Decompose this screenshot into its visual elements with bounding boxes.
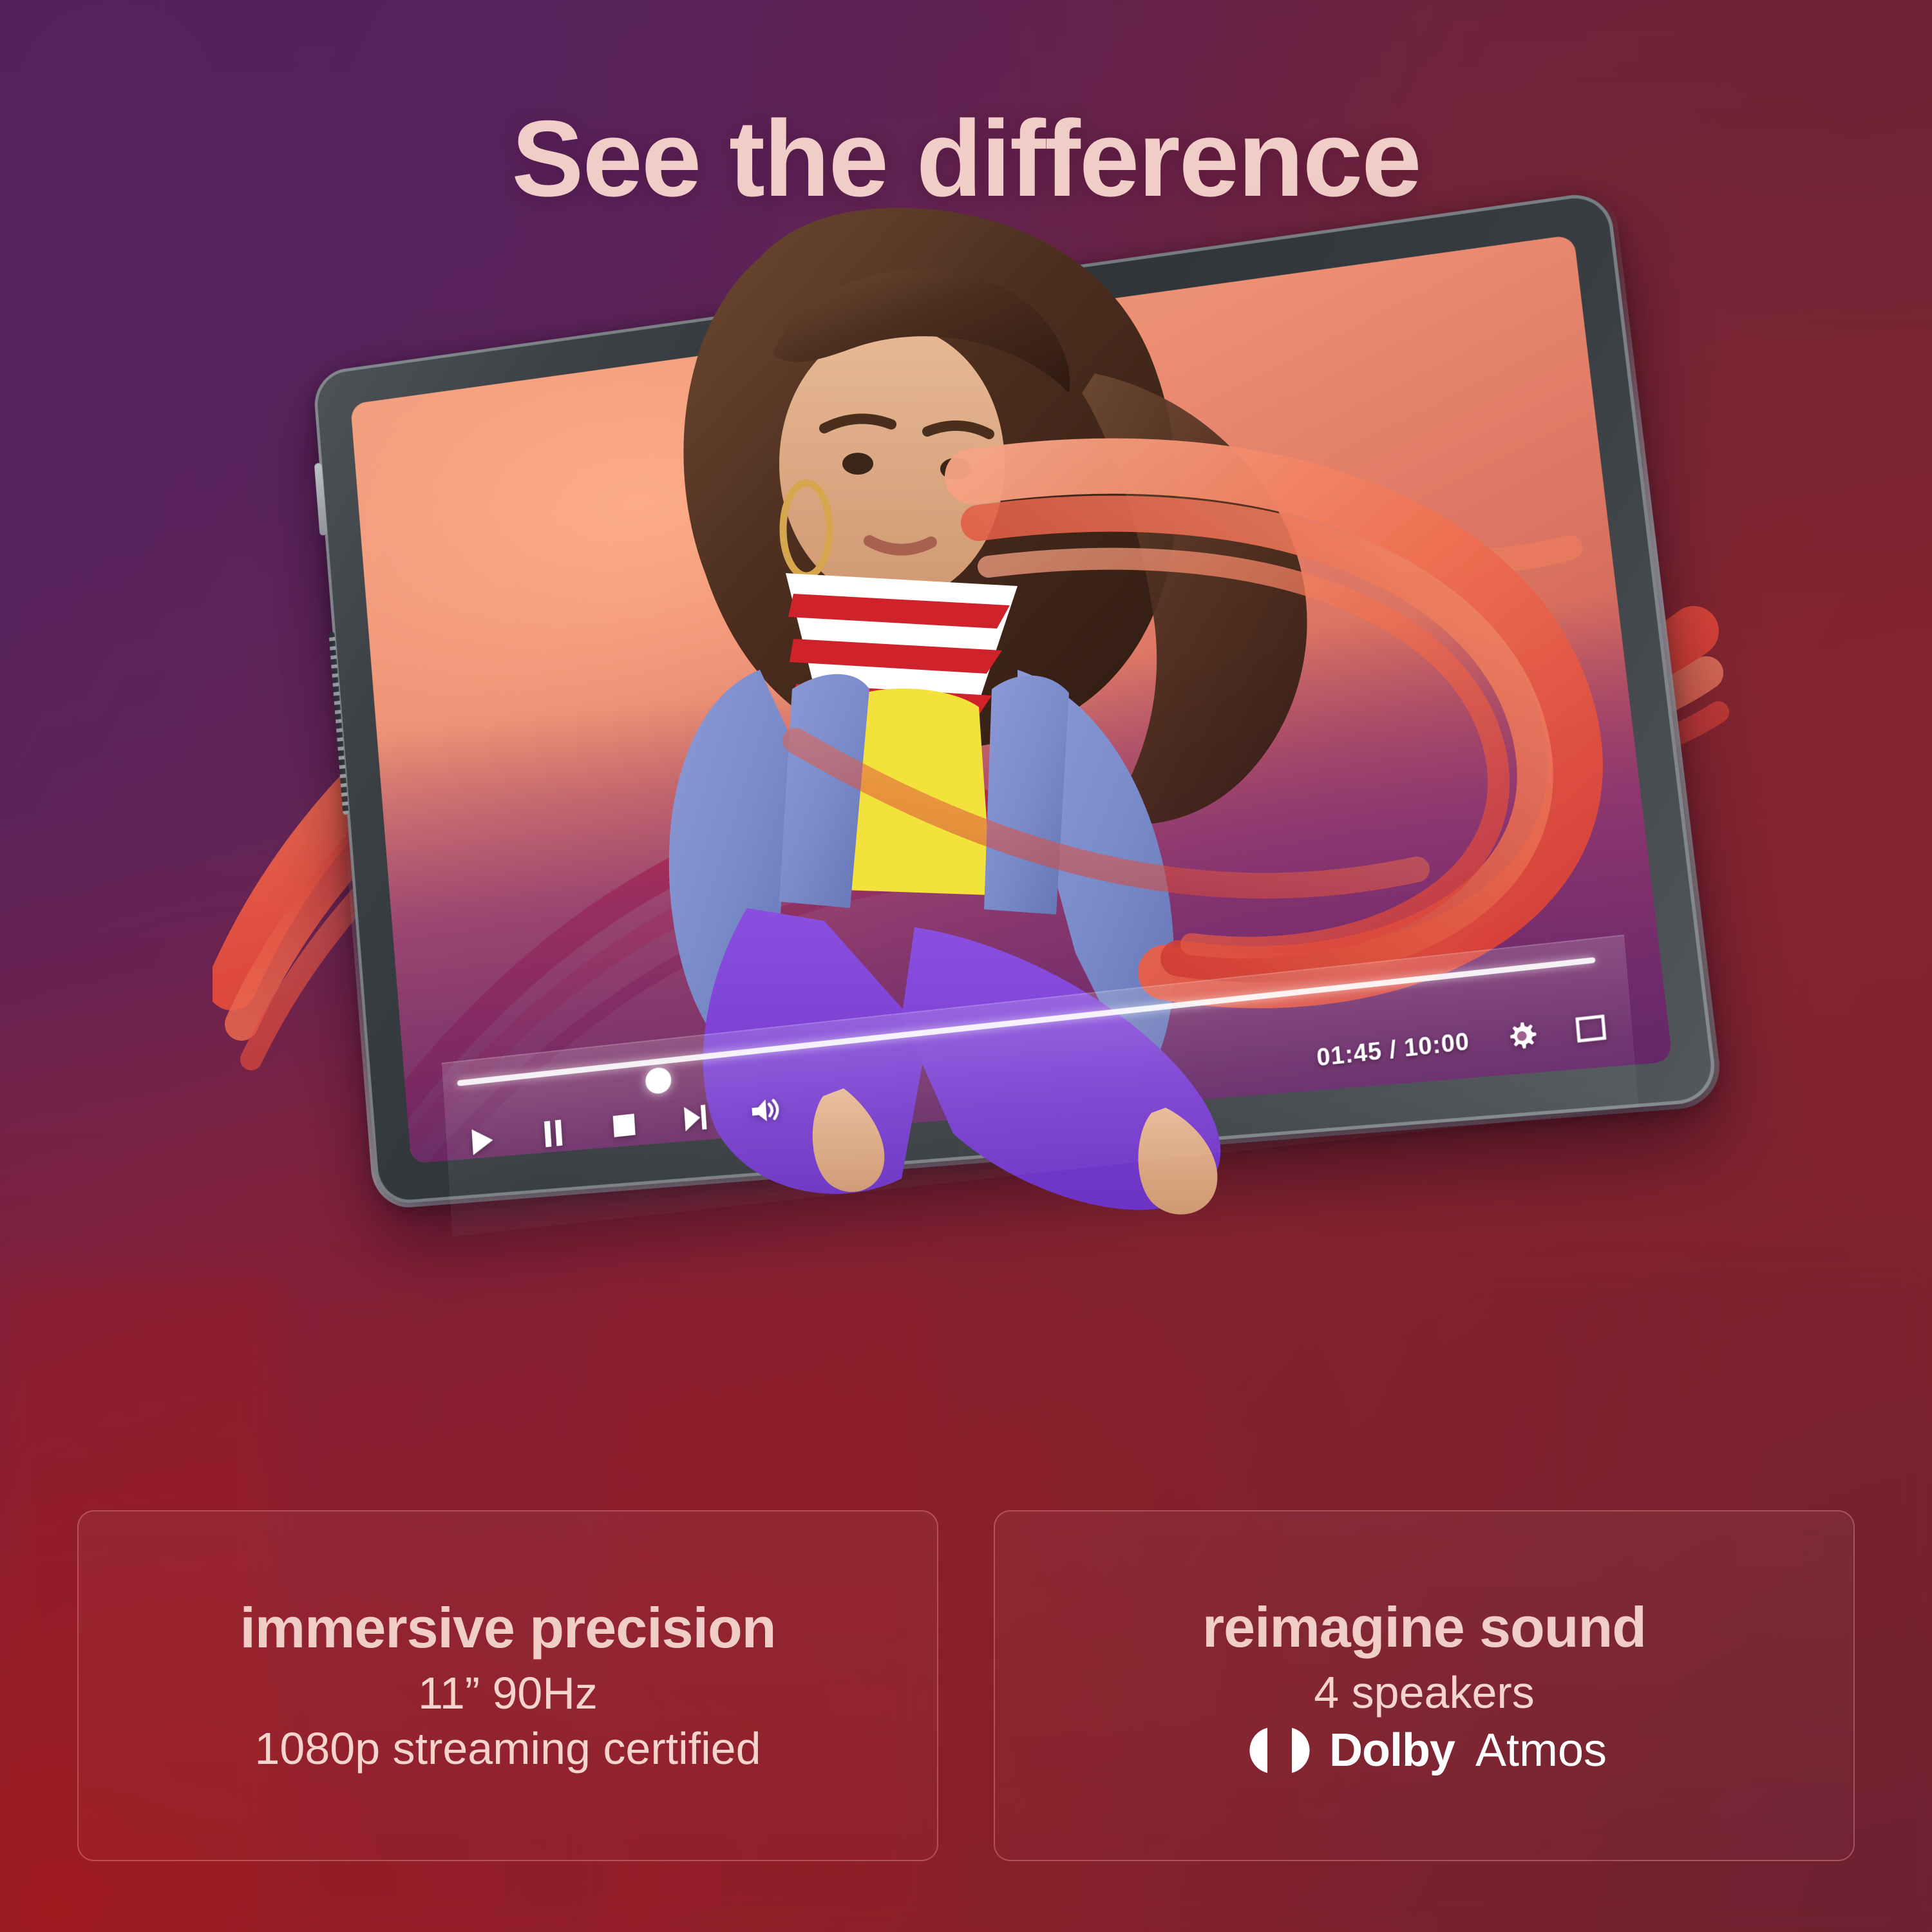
stop-icon[interactable]	[606, 1106, 641, 1146]
spec-card-title: immersive precision	[240, 1595, 775, 1661]
pause-icon[interactable]	[536, 1113, 571, 1153]
next-icon[interactable]	[677, 1098, 712, 1138]
settings-gear-icon[interactable]	[1504, 1016, 1540, 1056]
spec-card-audio[interactable]: reimagine sound 4 speakers Dolby Atmos	[994, 1510, 1855, 1861]
spec-card-title: reimagine sound	[1202, 1595, 1646, 1660]
dolby-atmos-logo: Dolby Atmos	[1242, 1724, 1607, 1777]
spec-card-line: 11” 90Hz	[418, 1666, 598, 1721]
speaker-grille	[328, 632, 348, 815]
jacket-lapel-right	[984, 676, 1069, 914]
volume-button[interactable]	[314, 462, 327, 535]
dolby-wordmark: Dolby	[1329, 1724, 1455, 1777]
dolby-double-d-icon	[1242, 1727, 1318, 1774]
spec-card-display[interactable]: immersive precision 11” 90Hz 1080p strea…	[77, 1510, 938, 1861]
atmos-wordmark: Atmos	[1475, 1724, 1607, 1777]
play-icon[interactable]	[465, 1121, 500, 1161]
eye-right	[940, 458, 971, 480]
spec-card-line: 4 speakers	[1314, 1665, 1534, 1720]
spec-cards: immersive precision 11” 90Hz 1080p strea…	[77, 1510, 1855, 1861]
volume-icon[interactable]	[747, 1091, 783, 1131]
spec-card-line: 1080p streaming certified	[255, 1721, 761, 1776]
fullscreen-icon[interactable]	[1573, 1009, 1609, 1048]
face	[779, 325, 1005, 602]
eye-left	[842, 453, 873, 475]
hero-composition: 01:45 / 10:00	[0, 277, 1932, 1462]
